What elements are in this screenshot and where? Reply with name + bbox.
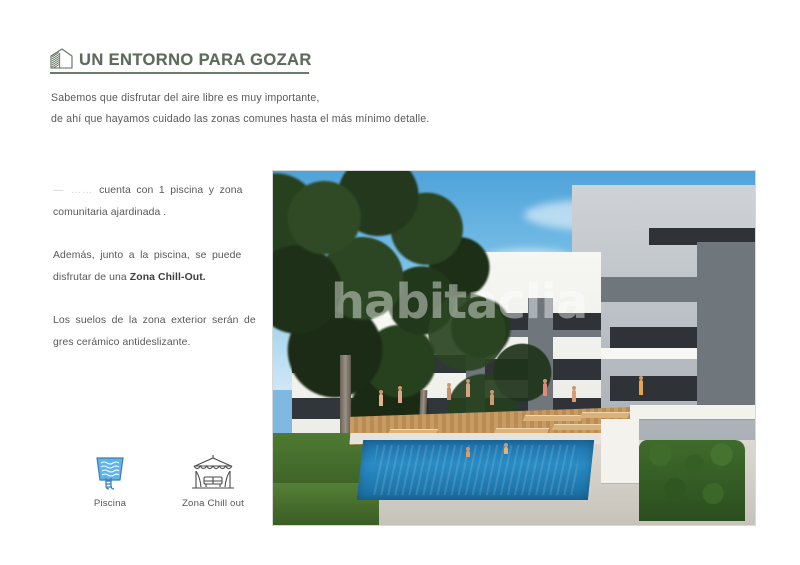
- section-header: UN ENTORNO PARA GOZAR: [50, 44, 320, 76]
- paragraph-chillout-line-2-text: disfrutar de una: [53, 272, 130, 283]
- paragraph-chillout-line-1: Además, junto a la piscina, se puede: [53, 245, 268, 267]
- building-wing: [697, 242, 755, 412]
- paragraph-flooring-line-1: Los suelos de la zona exterior serán de: [53, 310, 268, 332]
- amenity-label-pool: Piscina: [64, 498, 156, 509]
- title-underline: [50, 72, 309, 74]
- person: [639, 380, 643, 395]
- person: [543, 383, 547, 396]
- redacted-text: — ……: [53, 185, 94, 196]
- building-hatched-icon: [50, 48, 74, 70]
- intro-paragraph: Sabemos que disfrutar del aire libre es …: [51, 88, 471, 130]
- paragraph-chillout-line-2: disfrutar de una Zona Chill-Out.: [53, 267, 268, 289]
- person: [398, 390, 402, 403]
- gazebo-icon: [167, 450, 259, 496]
- sun-lounger: [580, 412, 631, 418]
- person: [379, 394, 383, 406]
- amenity-legend: Piscina: [62, 450, 277, 525]
- sun-lounger: [522, 415, 582, 421]
- person: [447, 387, 451, 400]
- person: [490, 394, 494, 405]
- body-text-column: — …… cuenta con 1 piscina y zona comunit…: [53, 180, 268, 354]
- amenity-item-pool: Piscina: [64, 450, 156, 509]
- amenity-label-chillout: Zona Chill out: [167, 498, 259, 509]
- intro-line-2: de ahí que hayamos cuidado las zonas com…: [51, 109, 471, 130]
- garden-wall: [630, 405, 755, 419]
- hedge: [639, 440, 745, 521]
- person: [466, 383, 470, 397]
- paragraph-flooring-line-2: gres cerámico antideslizante.: [53, 332, 268, 354]
- person-in-pool: [504, 447, 508, 454]
- community-area-photo: habitaclia: [272, 170, 756, 526]
- intro-line-1: Sabemos que disfrutar del aire libre es …: [51, 88, 471, 109]
- paragraph-pool-line-1: — …… cuenta con 1 piscina y zona: [53, 180, 268, 202]
- paragraph-pool: — …… cuenta con 1 piscina y zona comunit…: [53, 180, 268, 224]
- paragraph-pool-line-2: comunitaria ajardinada .: [53, 202, 268, 224]
- garden-wall: [601, 419, 640, 483]
- water-ripples: [371, 445, 580, 496]
- chillout-emphasis: Zona Chill-Out.: [130, 272, 206, 283]
- paragraph-pool-line-1-text: cuenta con 1 piscina y zona: [99, 185, 242, 196]
- swimming-pool: [357, 440, 595, 500]
- page-title: UN ENTORNO PARA GOZAR: [79, 50, 312, 70]
- paragraph-chillout: Además, junto a la piscina, se puede dis…: [53, 245, 268, 289]
- paragraph-flooring: Los suelos de la zona exterior serán de …: [53, 310, 268, 354]
- swimming-pool-icon: [64, 450, 156, 496]
- document-page: UN ENTORNO PARA GOZAR Sabemos que disfru…: [0, 0, 800, 565]
- person-in-pool: [466, 451, 470, 457]
- person: [572, 390, 576, 402]
- amenity-item-chillout: Zona Chill out: [167, 450, 259, 509]
